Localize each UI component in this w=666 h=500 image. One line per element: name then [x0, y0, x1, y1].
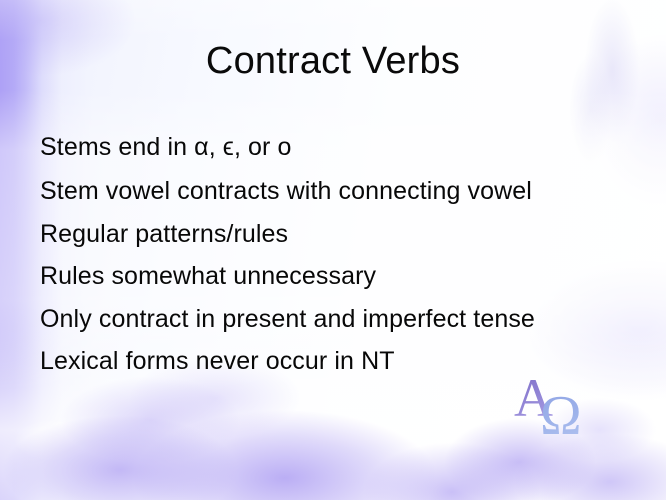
presentation-slide: Contract Verbs Stems end in α, ϵ, or ο S… [0, 0, 666, 500]
alpha-omega-emblem: Α Ω [512, 372, 598, 440]
bullet-list: Stems end in α, ϵ, or ο Stem vowel contr… [40, 124, 650, 383]
bullet-item-3: Regular patterns/rules [40, 213, 650, 256]
slide-content: Contract Verbs Stems end in α, ϵ, or ο S… [0, 0, 666, 500]
bullet-item-2: Stem vowel contracts with connecting vow… [40, 170, 650, 213]
bullet-item-5: Only contract in present and imperfect t… [40, 298, 650, 341]
bullet-item-1: Stems end in α, ϵ, or ο [40, 124, 650, 170]
bullet-item-4: Rules somewhat unnecessary [40, 255, 650, 298]
slide-title: Contract Verbs [0, 38, 666, 84]
omega-glyph: Ω [540, 385, 582, 447]
